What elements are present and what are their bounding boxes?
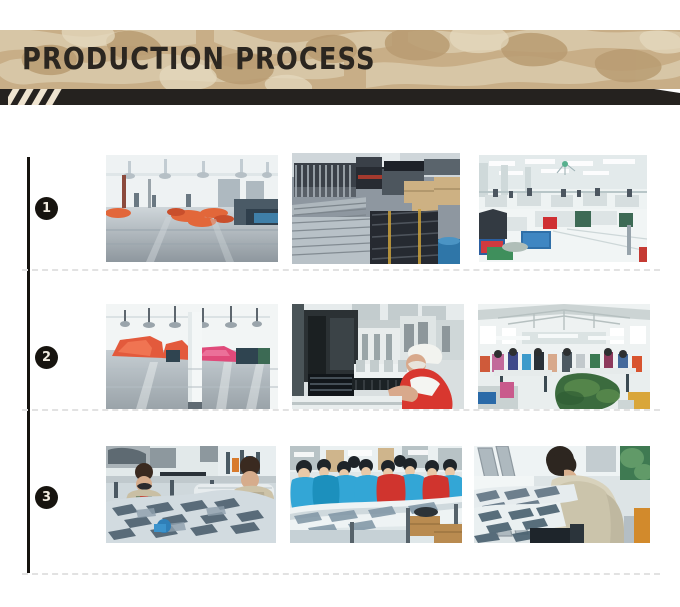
sewing-workshop-photo <box>478 304 650 409</box>
step-number-badge-3: 3 <box>35 486 58 509</box>
process-step-1: 1 <box>0 105 680 270</box>
step-divider-3 <box>22 573 660 575</box>
step-number-badge-2: 2 <box>35 346 58 369</box>
header-accent-bar <box>0 89 680 105</box>
storage-bay-photo <box>106 304 278 409</box>
page-header-banner: PRODUCTION PROCESS <box>0 30 680 90</box>
process-step-3: 3 <box>0 409 680 579</box>
sewing-hall-overview-photo <box>479 155 647 262</box>
raw-material-stacks-photo <box>292 153 460 264</box>
machine-operator-photo <box>292 304 464 409</box>
quality-inspection-line-photo <box>290 446 462 543</box>
process-step-2: 2 <box>0 270 680 410</box>
fabric-cutting-photo <box>106 446 276 543</box>
page-title: PRODUCTION PROCESS <box>22 45 376 75</box>
step-number-badge-1: 1 <box>35 197 58 220</box>
production-process-grid: 1 <box>0 105 680 607</box>
diagonal-stripes-icon <box>8 89 80 105</box>
warehouse-floor-photo <box>106 155 278 262</box>
accent-bar-fill <box>0 89 680 105</box>
accent-bar-notch <box>654 89 680 93</box>
stitching-station-photo <box>474 446 650 543</box>
